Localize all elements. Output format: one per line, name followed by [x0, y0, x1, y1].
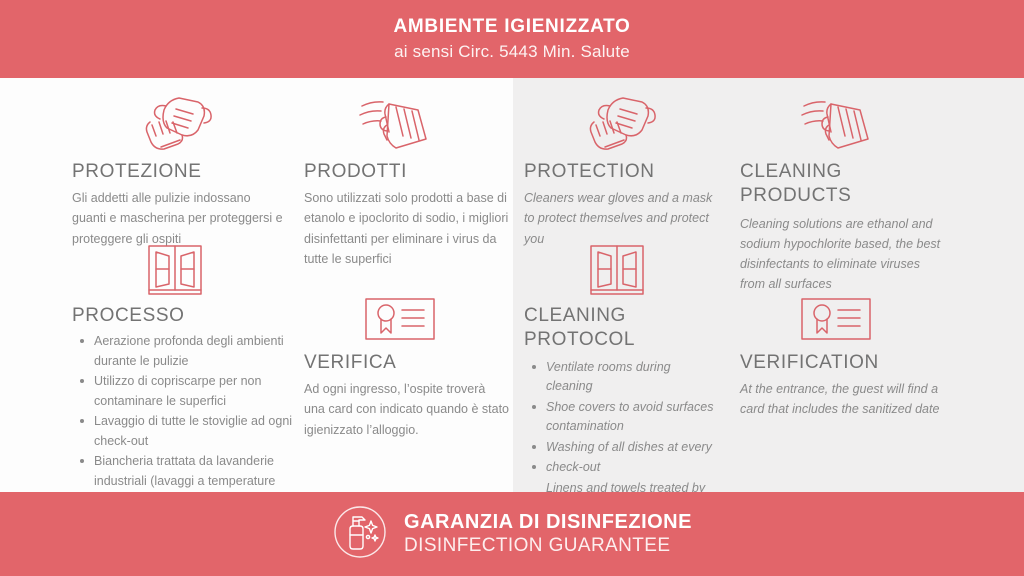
block-title: PROCESSO — [72, 304, 297, 327]
footer-banner: GARANZIA DI DISINFEZIONE DISINFECTION GU… — [0, 492, 1024, 576]
block-text: Cleaners wear gloves and a mask to prote… — [524, 188, 714, 249]
block-title-line2: PRODUCTS — [740, 185, 851, 206]
certificate-card-icon — [798, 293, 940, 345]
block-prodotti: PRODOTTI Sono utilizzati solo prodotti a… — [304, 92, 509, 269]
block-protezione: PROTEZIONE Gli addetti alle pulizie indo… — [72, 92, 287, 249]
block-verification: VERIFICATION At the entrance, the guest … — [740, 293, 940, 420]
block-title: CLEANING PRODUCTS — [740, 160, 945, 209]
block-title: VERIFICA — [304, 351, 509, 374]
block-verifica: VERIFICA Ad ogni ingresso, l’ospite trov… — [304, 293, 509, 440]
block-title-line1: CLEANING — [524, 305, 626, 326]
certificate-card-icon — [362, 293, 509, 345]
header-banner: AMBIENTE IGIENIZZATO ai sensi Circ. 5443… — [0, 0, 1024, 78]
block-text: Ad ogni ingresso, l’ospite troverà una c… — [304, 379, 509, 440]
header-subtitle: ai sensi Circ. 5443 Min. Salute — [394, 42, 630, 62]
block-text: Gli addetti alle pulizie indossano guant… — [72, 188, 287, 249]
block-title-line2: PROTOCOL — [524, 329, 635, 350]
block-title: VERIFICATION — [740, 351, 940, 374]
list-item: Shoe covers to avoid surfaces contaminat… — [524, 398, 719, 437]
block-processo: PROCESSO Aerazione profonda degli ambien… — [72, 242, 297, 512]
block-text: At the entrance, the guest will find a c… — [740, 379, 940, 420]
list-item: Lavaggio di tutte le stoviglie ad ogni c… — [72, 412, 297, 451]
spray-bottle-sparkle-icon — [332, 504, 388, 565]
list-item: check-out — [524, 458, 719, 478]
block-text: Cleaning solutions are ethanol and sodiu… — [740, 214, 945, 295]
footer-inner: GARANZIA DI DISINFEZIONE DISINFECTION GU… — [332, 504, 692, 565]
sanitized-environment-poster: AMBIENTE IGIENIZZATO ai sensi Circ. 5443… — [0, 0, 1024, 576]
list-item: Ventilate rooms during cleaning — [524, 358, 719, 397]
footer-subtitle: DISINFECTION GUARANTEE — [404, 535, 692, 558]
block-title: CLEANING PROTOCOL — [524, 304, 719, 353]
open-window-icon — [586, 242, 719, 298]
header-title: AMBIENTE IGIENIZZATO — [393, 16, 630, 38]
open-window-icon — [144, 242, 297, 298]
block-cleaning-products: CLEANING PRODUCTS Cleaning solutions are… — [740, 92, 945, 295]
block-protection: PROTECTION Cleaners wear gloves and a ma… — [524, 92, 714, 249]
content-area: PROTEZIONE Gli addetti alle pulizie indo… — [0, 78, 1024, 492]
hand-wiping-cloth-icon — [798, 92, 945, 154]
footer-text: GARANZIA DI DISINFEZIONE DISINFECTION GU… — [404, 510, 692, 558]
block-title: PROTEZIONE — [72, 160, 287, 183]
list-item: Aerazione profonda degli ambienti durant… — [72, 332, 297, 371]
block-title: PROTECTION — [524, 160, 714, 183]
footer-title: GARANZIA DI DISINFEZIONE — [404, 510, 692, 534]
block-title-line1: CLEANING — [740, 161, 842, 182]
gloved-hand-mask-icon — [136, 92, 287, 154]
processo-bullet-list: Aerazione profonda degli ambienti durant… — [72, 332, 297, 511]
block-title: PRODOTTI — [304, 160, 509, 183]
list-item: Utilizzo di copriscarpe per non contamin… — [72, 372, 297, 411]
block-text: Sono utilizzati solo prodotti a base di … — [304, 188, 509, 269]
hand-wiping-cloth-icon — [356, 92, 509, 154]
gloved-hand-mask-icon — [580, 92, 714, 154]
list-item: Washing of all dishes at every — [524, 438, 719, 458]
